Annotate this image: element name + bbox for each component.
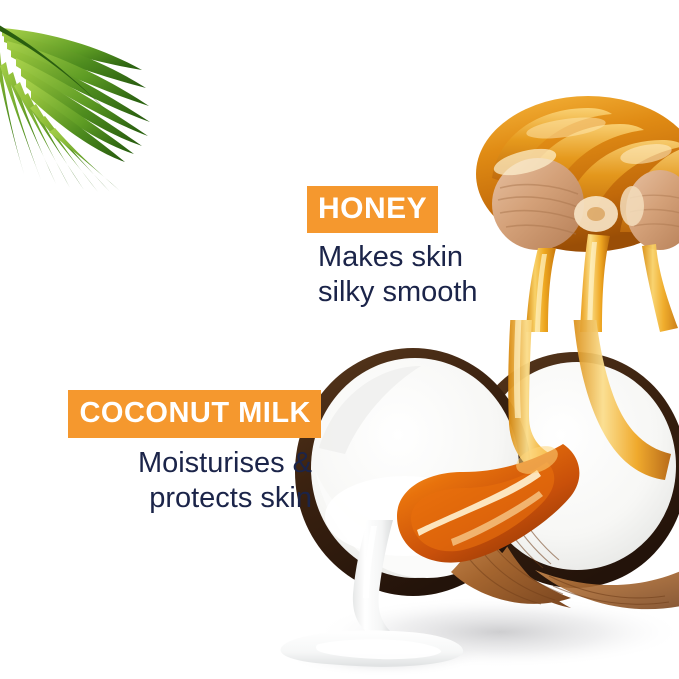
coconut-milk-description: Moisturises & protects skin — [11, 446, 312, 516]
honey-description: Makes skin silky smooth — [318, 240, 478, 310]
coconut-milk-description-line-1: Moisturises & — [11, 446, 312, 481]
coconut-milk-description-line-2: protects skin — [11, 481, 312, 516]
product-benefits-infographic: HONEY Makes skin silky smooth COCONUT MI… — [0, 0, 679, 679]
coconut-milk-pour — [275, 520, 495, 679]
callout-honey: HONEY Makes skin silky smooth — [307, 186, 478, 310]
palm-leaf-decoration — [0, 8, 179, 198]
badge-honey: HONEY — [307, 186, 438, 233]
honey-description-line-1: Makes skin — [318, 240, 478, 275]
callout-coconut-milk: COCONUT MILK Moisturises & protects skin — [11, 390, 321, 516]
honey-dipper-image — [470, 82, 679, 332]
badge-coconut-milk: COCONUT MILK — [68, 390, 321, 438]
honey-description-line-2: silky smooth — [318, 275, 478, 310]
